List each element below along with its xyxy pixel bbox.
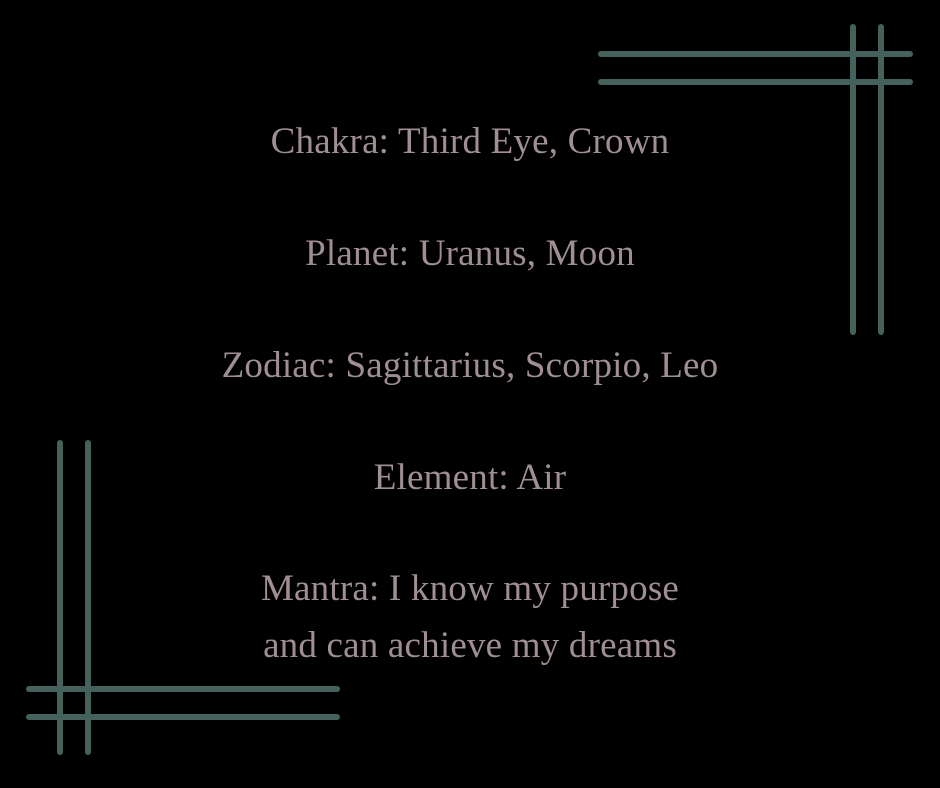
mantra-line-2: and can achieve my dreams bbox=[0, 627, 940, 664]
zodiac-line: Zodiac: Sagittarius, Scorpio, Leo bbox=[0, 347, 940, 384]
chakra-line: Chakra: Third Eye, Crown bbox=[0, 123, 940, 160]
planet-line: Planet: Uranus, Moon bbox=[0, 235, 940, 272]
poster-canvas: Chakra: Third Eye, Crown Planet: Uranus,… bbox=[0, 0, 940, 788]
mantra-line-1: Mantra: I know my purpose bbox=[0, 570, 940, 607]
attribute-text-block: Chakra: Third Eye, Crown Planet: Uranus,… bbox=[0, 0, 940, 788]
element-line: Element: Air bbox=[0, 459, 940, 496]
